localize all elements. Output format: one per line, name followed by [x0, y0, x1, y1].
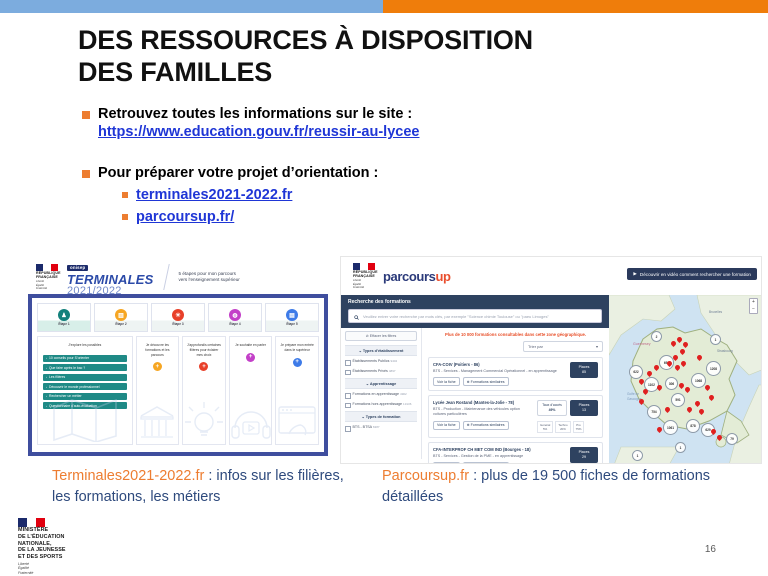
places-badge: Places13 — [570, 400, 598, 416]
view-sheet-button[interactable]: Voir la fiche — [433, 462, 460, 464]
page-title: DES RESSOURCES À DISPOSITION DES FAMILLE… — [78, 25, 678, 89]
results-list: Plus de 10 000 formations consultables d… — [422, 328, 609, 459]
result-row[interactable]: CFA-COIV (Poitiers - 86) BTS - Services … — [428, 357, 603, 391]
plus-icon[interactable]: + — [199, 362, 208, 371]
map-graphic: Guernesey Golfe de Gascogne Strasbourg B… — [609, 295, 761, 464]
card-explore-title: J’explore les possibles — [38, 337, 132, 348]
ministry-logo: MINISTÈRE DE L’ÉDUCATION NATIONALE, DE L… — [18, 518, 66, 576]
results-note: Plus de 10 000 formations consultables d… — [428, 332, 603, 337]
filter-option-publics[interactable]: Établissements Publics 9402 — [345, 359, 417, 366]
caption-terminales-link: Terminales2021-2022.fr — [52, 468, 204, 484]
map-zoom-controls[interactable]: +− — [749, 298, 758, 314]
link-education-gouv[interactable]: https://www.education.gouv.fr/reussir-au… — [98, 123, 642, 142]
step-2-icon: ▥ — [115, 309, 127, 321]
step-1[interactable]: ♟ Étape 1 — [37, 303, 91, 332]
result-subtitle: BTS - Services - Gestion de la PME - en … — [433, 454, 566, 459]
card-approfondis[interactable]: J’approfondis certaines filières pour éc… — [182, 336, 226, 445]
step-4[interactable]: ◍ Étape 4 — [208, 303, 262, 332]
plus-icon[interactable]: + — [153, 362, 162, 371]
bullet-2-text: Pour préparer votre projet d’orientation… — [98, 164, 378, 182]
sub-bullet-item-2: parcoursup.fr/ — [122, 208, 642, 227]
terminales-header: RÉPUBLIQUE FRANÇAISE Liberté Égalité Fra… — [18, 256, 338, 294]
terminales-wordmark: TERMINALES — [67, 273, 154, 286]
bullet-square-icon — [122, 214, 128, 220]
chevron-right-icon: › — [46, 385, 47, 389]
step-1-label: Étape 1 — [58, 322, 69, 326]
search-icon — [354, 307, 359, 325]
top-bar-orange — [383, 0, 768, 13]
map-cluster[interactable]: 1 — [710, 334, 721, 345]
ministry-name: MINISTÈRE DE L’ÉDUCATION NATIONALE, DE L… — [18, 527, 66, 561]
acceptance-rate-badge: Taux d’accès49% — [537, 400, 567, 416]
parcoursup-header: RÉPUBLIQUE FRANÇAISE Liberté Égalité Fra… — [341, 257, 761, 295]
parcoursup-screenshot: RÉPUBLIQUE FRANÇAISE Liberté Égalité Fra… — [340, 256, 762, 464]
result-row[interactable]: CFA-INTERPROF CH MET COM IND (Bourges - … — [428, 442, 603, 464]
explore-link-1[interactable]: ›10 conseils pour S’orienter — [43, 355, 127, 362]
checkbox-icon[interactable] — [345, 393, 351, 399]
checkbox-icon[interactable] — [345, 426, 351, 432]
terminales-panel: ♟ Étape 1 ▥ Étape 2 ✳ Étape 3 ◍ Étape 4 — [28, 294, 328, 456]
similar-formations-button[interactable]: ⊕ Formations similaires — [463, 421, 509, 430]
french-flag-icon — [18, 518, 45, 527]
result-title: CFA-INTERPROF CH MET COM IND (Bourges - … — [433, 447, 566, 453]
chevron-right-icon: › — [46, 394, 47, 398]
step-3-icon: ✳ — [172, 309, 184, 321]
filter-option-prives[interactable]: Établissements Privés 4897 — [345, 369, 417, 376]
map-cluster[interactable]: 306 — [665, 377, 678, 390]
map-cluster[interactable]: 878 — [686, 419, 700, 433]
step-3[interactable]: ✳ Étape 3 — [151, 303, 205, 332]
devise: Liberté Égalité Fraternité — [353, 279, 377, 289]
formations-map[interactable]: Guernesey Golfe de Gascogne Strasbourg B… — [609, 295, 761, 464]
filter-option-en-apprentissage[interactable]: Formations en apprentissage 4902 — [345, 392, 417, 399]
result-subtitle: BTS - Production - Maintenance des véhic… — [433, 407, 533, 418]
card-decouvre[interactable]: Je découvre les formations et les parcou… — [136, 336, 180, 445]
republique-line-2: FRANÇAISE — [353, 274, 377, 278]
card-entree-title: Je prépare mon entrée dans le supérieur — [276, 337, 318, 353]
title-line-2: DES FAMILLES — [78, 57, 678, 89]
map-cluster[interactable]: 79 — [726, 433, 738, 445]
chevron-right-icon: › — [46, 375, 47, 379]
caption-parcoursup-link: Parcoursup.fr — [382, 468, 469, 484]
bullet-square-icon — [82, 111, 90, 119]
chevron-right-icon: › — [46, 356, 47, 360]
svg-text:Guernesey: Guernesey — [633, 342, 651, 346]
lightbulb-illustration-icon — [183, 400, 225, 442]
slide: DES RESSOURCES À DISPOSITION DES FAMILLE… — [0, 0, 768, 576]
explore-link-3[interactable]: ›Les filières — [43, 374, 127, 381]
bank-illustration-icon — [137, 402, 177, 442]
divider — [163, 264, 170, 290]
card-entree[interactable]: Je prépare mon entrée dans le supérieur … — [275, 336, 319, 445]
places-badge: Places85 — [570, 362, 598, 378]
onisep-logo: onisep — [67, 265, 88, 271]
card-explore[interactable]: J’explore les possibles ›10 conseils pou… — [37, 336, 133, 445]
bullet-1-text: Retrouvez toutes les informations sur le… — [98, 105, 412, 123]
devise: Liberté Égalité Fraternité — [36, 280, 60, 290]
filter-group-types-etablissement[interactable]: ⌄ Types d’établissement — [345, 345, 417, 356]
french-flag-icon — [353, 263, 375, 270]
browser-hand-illustration-icon — [275, 404, 319, 442]
video-discover-label: Découvrir en vidéo comment rechercher un… — [640, 272, 751, 277]
search-placeholder: Veuillez entrer votre recherche par mots… — [363, 314, 549, 319]
caption-parcoursup: Parcoursup.fr : plus de 19 500 fiches de… — [382, 466, 712, 508]
places-badge: Places29 — [570, 447, 598, 463]
step-4-label: Étape 4 — [229, 322, 240, 326]
map-cluster[interactable]: 1 — [675, 442, 686, 453]
sub-bullet-item-1: terminales2021-2022.fr — [122, 186, 642, 205]
view-sheet-button[interactable]: Voir la fiche — [433, 421, 460, 430]
result-subtitle: BTS - Services - Management Commercial O… — [433, 369, 566, 374]
map-cluster[interactable]: 1 — [632, 450, 643, 461]
plus-icon[interactable]: + — [293, 358, 302, 367]
step-5-label: Étape 5 — [286, 322, 297, 326]
marianne-logo: RÉPUBLIQUE FRANÇAISE Liberté Égalité Fra… — [353, 263, 377, 290]
terminales-subtitle-line-2: vers l’enseignement supérieur — [179, 277, 240, 283]
step-5[interactable]: ▤ Étape 5 — [265, 303, 319, 332]
top-color-bar — [0, 0, 768, 13]
french-flag-icon — [36, 264, 58, 271]
step-5-icon: ▤ — [286, 309, 298, 321]
search-input[interactable]: Veuillez entrer votre recherche par mots… — [348, 309, 602, 323]
map-cluster[interactable]: 622 — [629, 365, 643, 379]
filter-group-apprentissage[interactable]: ⌄ Apprentissage — [345, 378, 417, 389]
map-illustration-icon — [50, 396, 120, 442]
bullet-item-1: Retrouvez toutes les informations sur le… — [82, 105, 642, 123]
bullet-square-icon — [82, 170, 90, 178]
republique-line-2: FRANÇAISE — [36, 275, 60, 279]
terminales-brand: onisep TERMINALES 2021/2022 — [67, 257, 154, 298]
terminales-subtitle: 5 étapes pour mon parcours vers l’enseig… — [179, 271, 240, 284]
step-2-label: Étape 2 — [115, 322, 126, 326]
top-bar-blue — [0, 0, 383, 13]
view-sheet-button[interactable]: Voir la fiche — [433, 377, 460, 386]
svg-text:Bruxelles: Bruxelles — [709, 310, 723, 314]
card-approfondis-title: J’approfondis certaines filières pour éc… — [183, 337, 225, 357]
page-number: 16 — [705, 544, 716, 555]
headphones-illustration-icon — [229, 404, 273, 442]
sub-bullet-list: terminales2021-2022.fr parcoursup.fr/ — [122, 186, 642, 227]
parcoursup-logo[interactable]: parcoursup — [383, 269, 451, 284]
map-cluster[interactable]: 754 — [647, 405, 661, 419]
cards-row: J’explore les possibles ›10 conseils pou… — [32, 332, 324, 450]
link-terminales[interactable]: terminales2021-2022.fr — [136, 186, 292, 205]
filter-option-hors-apprentissage[interactable]: Formations hors apprentissage 13136 — [345, 402, 417, 409]
map-cluster[interactable]: 1061 — [663, 420, 678, 435]
sort-select[interactable]: Trier par▾ — [523, 341, 603, 352]
svg-text:Strasbourg: Strasbourg — [717, 349, 733, 353]
bullet-list: Retrouvez toutes les informations sur le… — [82, 105, 642, 230]
step-3-label: Étape 3 — [172, 322, 183, 326]
terminales-screenshot: RÉPUBLIQUE FRANÇAISE Liberté Égalité Fra… — [18, 256, 338, 464]
filter-group-types-formation[interactable]: ⌄ Types de formation — [345, 411, 417, 422]
card-parler[interactable]: Je souhaite en parler + — [229, 336, 273, 445]
explore-link-2[interactable]: ›Que faire après le bac ? — [43, 364, 127, 371]
map-cluster[interactable]: 2 — [651, 331, 662, 342]
result-row[interactable]: Lycée Jean Rostand (Mantes-la-Jolie - 78… — [428, 395, 603, 438]
similar-formations-button[interactable]: ⊕ Formations similaires — [463, 462, 509, 464]
marianne-logo: RÉPUBLIQUE FRANÇAISE Liberté Égalité Fra… — [36, 264, 60, 291]
card-decouvre-title: Je découvre les formations et les parcou… — [137, 337, 179, 357]
caption-terminales: Terminales2021-2022.fr : infos sur les f… — [52, 466, 362, 508]
filters-sidebar: ⊘ Effacer les filtres ⌄ Types d’établiss… — [341, 328, 422, 459]
card-parler-title: Je souhaite en parler — [230, 337, 272, 348]
video-discover-button[interactable]: ▶ Découvrir en vidéo comment rechercher … — [627, 268, 757, 280]
parcoursup-search-panel: Recherche des formations Veuillez entrer… — [341, 295, 609, 464]
parcoursup-body: Recherche des formations Veuillez entrer… — [341, 295, 761, 464]
parcoursup-logo-part-2: up — [435, 269, 450, 284]
checkbox-icon[interactable] — [345, 360, 351, 366]
step-2[interactable]: ▥ Étape 2 — [94, 303, 148, 332]
bullet-square-icon — [122, 192, 128, 198]
clear-filters-button[interactable]: ⊘ Effacer les filtres — [345, 331, 417, 341]
results-columns: ⊘ Effacer les filtres ⌄ Types d’établiss… — [341, 328, 609, 459]
ministry-devise: Liberté Égalité Fraternité — [18, 562, 66, 576]
result-title: Lycée Jean Rostand (Mantes-la-Jolie - 78… — [433, 400, 533, 406]
step-1-icon: ♟ — [58, 309, 70, 321]
search-wrap: Veuillez entrer votre recherche par mots… — [341, 309, 609, 328]
result-title: CFA-COIV (Poitiers - 86) — [433, 362, 566, 368]
filter-option-bts[interactable]: BTS - BTSA 6387 — [345, 425, 417, 432]
acceptance-split: Général5% Techno20% Pro75% — [537, 421, 584, 433]
play-circle-icon: ▶ — [633, 271, 637, 277]
step-4-icon: ◍ — [229, 309, 241, 321]
chevron-right-icon: › — [46, 366, 47, 370]
screenshots-row: RÉPUBLIQUE FRANÇAISE Liberté Égalité Fra… — [18, 256, 762, 464]
checkbox-icon[interactable] — [345, 403, 351, 409]
bullet-item-2: Pour préparer votre projet d’orientation… — [82, 164, 642, 182]
search-panel-title: Recherche des formations — [341, 295, 609, 309]
parcoursup-logo-part-1: parcours — [383, 269, 435, 284]
map-cluster[interactable]: 591 — [671, 393, 685, 407]
spacer — [82, 142, 642, 164]
chevron-right-icon: › — [46, 404, 47, 408]
map-cluster[interactable]: 1208 — [706, 361, 721, 376]
steps-row: ♟ Étape 1 ▥ Étape 2 ✳ Étape 3 ◍ Étape 4 — [32, 298, 324, 332]
title-line-1: DES RESSOURCES À DISPOSITION — [78, 25, 678, 57]
chevron-down-icon: ▾ — [596, 344, 598, 349]
svg-text:Golfe de: Golfe de — [627, 392, 639, 396]
explore-link-4[interactable]: ›Découvrir le monde professionnel — [43, 383, 127, 390]
link-parcoursup[interactable]: parcoursup.fr/ — [136, 208, 234, 227]
checkbox-icon[interactable] — [345, 370, 351, 376]
similar-formations-button[interactable]: ⊕ Formations similaires — [463, 377, 509, 386]
plus-icon[interactable]: + — [246, 353, 255, 362]
map-cluster[interactable]: 1068 — [691, 373, 706, 388]
